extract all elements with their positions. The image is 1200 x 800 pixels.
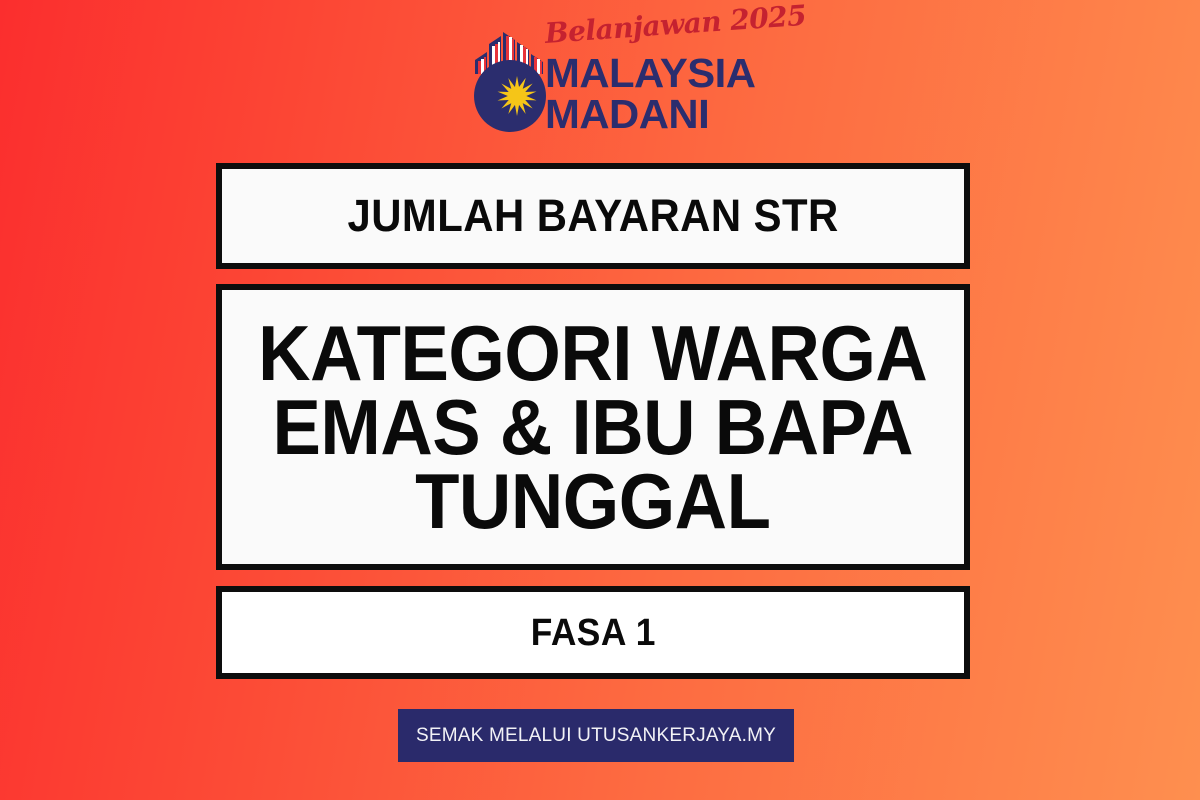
panel-title-text: JUMLAH BAYARAN STR — [347, 192, 838, 240]
panel-payment-total: JUMLAH BAYARAN STR — [216, 163, 970, 269]
brand-line-madani: MADANI — [545, 94, 709, 134]
cta-label: SEMAK MELALUI UTUSANKERJAYA.MY — [416, 725, 776, 747]
panel-main-line-3: TUNGGAL — [258, 464, 927, 538]
panel-phase: FASA 1 — [216, 586, 970, 679]
budget-year-script-text: Belanjawan 2025 — [544, 2, 746, 52]
logo-wordmark: Belanjawan 2025 MALAYSIA MADANI — [545, 16, 745, 136]
panel-main-text: KATEGORI WARGA EMAS & IBU BAPA TUNGGAL — [249, 316, 937, 538]
panel-category: KATEGORI WARGA EMAS & IBU BAPA TUNGGAL — [216, 284, 970, 570]
malaysia-madani-logo: Belanjawan 2025 MALAYSIA MADANI — [465, 16, 740, 136]
poster-canvas: Belanjawan 2025 MALAYSIA MADANI JUMLAH B… — [0, 0, 1200, 800]
malaysia-madani-emblem-icon — [465, 30, 555, 135]
brand-line-malaysia: MALAYSIA — [545, 53, 755, 93]
panel-main-line-2: EMAS & IBU BAPA — [258, 390, 927, 464]
panel-phase-text: FASA 1 — [530, 613, 655, 653]
cta-banner[interactable]: SEMAK MELALUI UTUSANKERJAYA.MY — [398, 709, 794, 762]
panel-main-line-1: KATEGORI WARGA — [258, 316, 927, 390]
